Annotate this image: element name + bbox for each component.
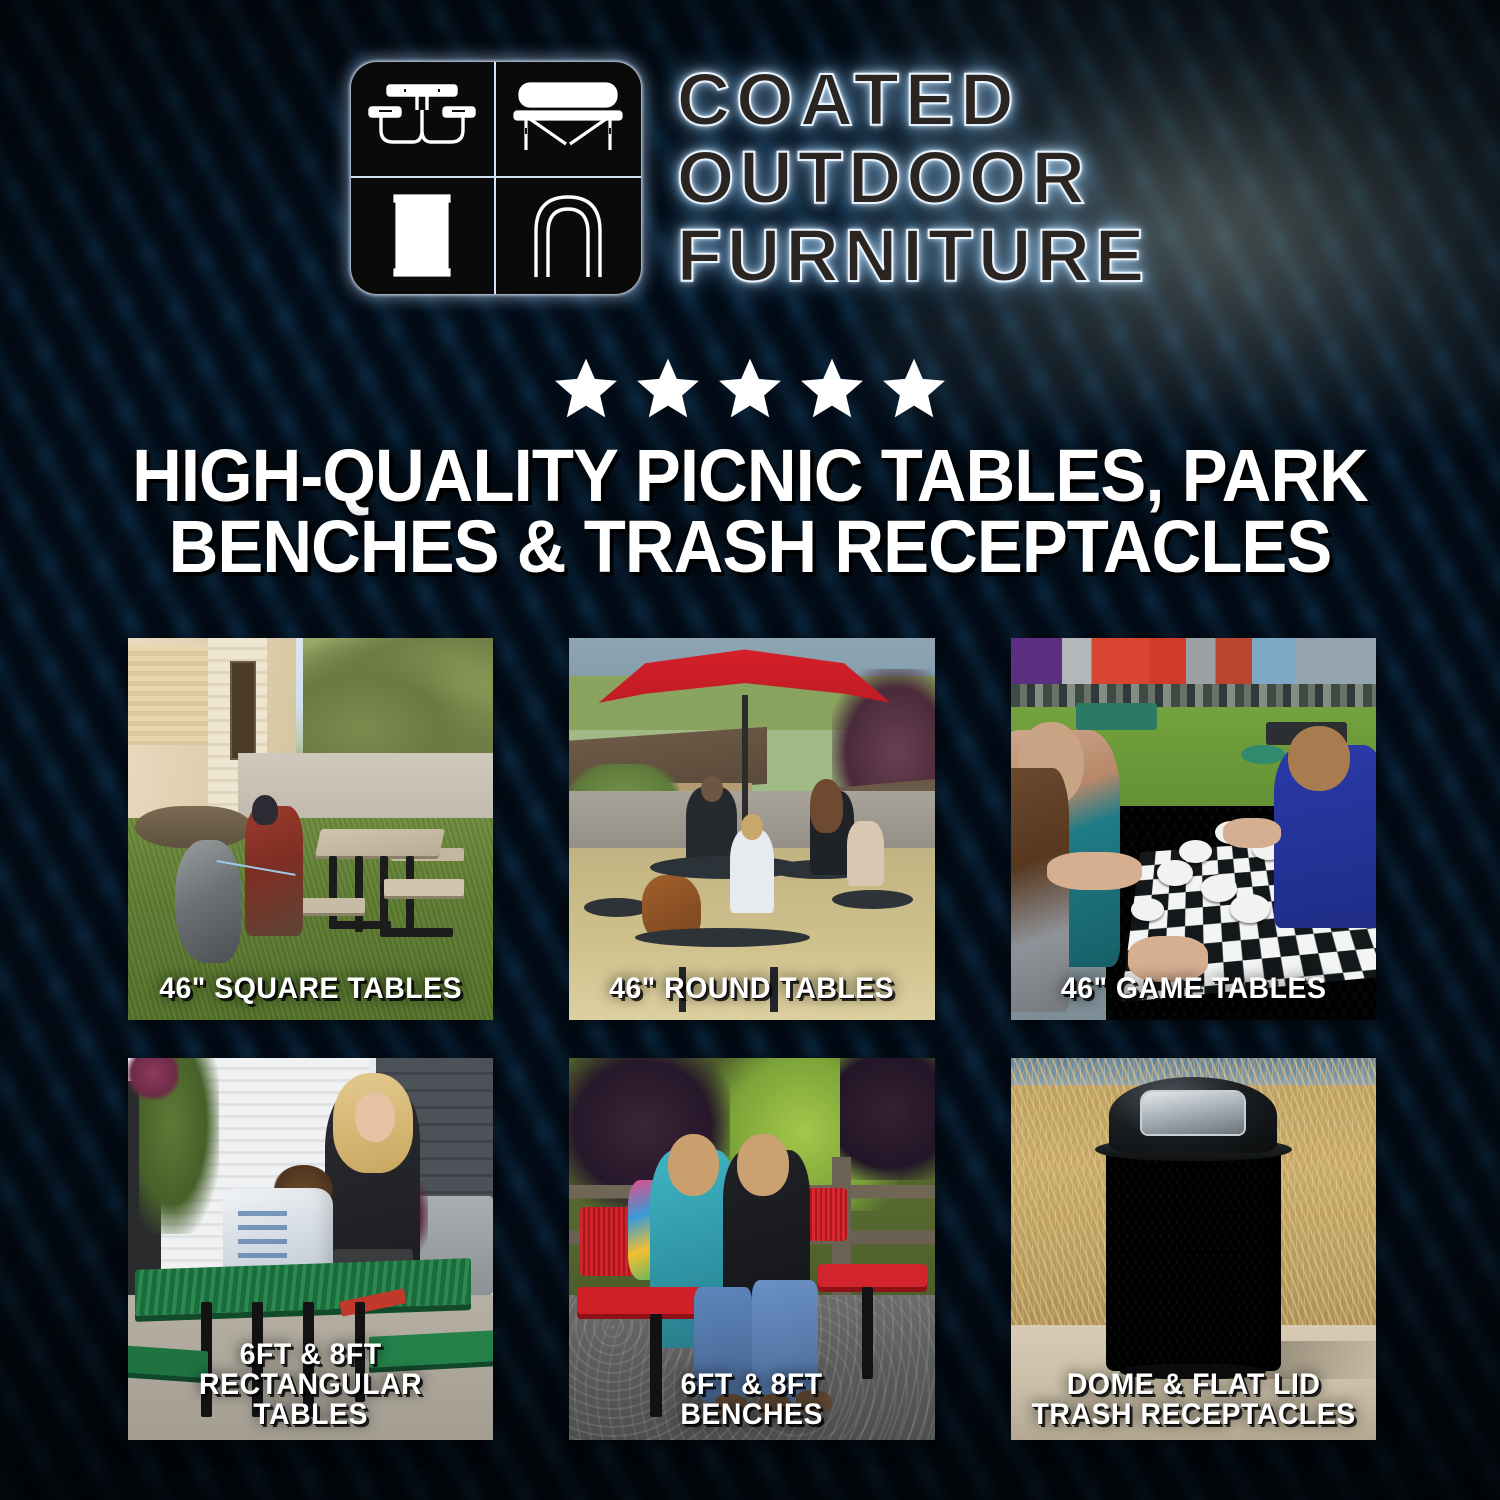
product-tile-round-tables[interactable]: 46" ROUND TABLES bbox=[569, 638, 934, 1020]
product-photo-game-tables bbox=[1011, 638, 1376, 1020]
headline-line-2: BENCHES & TRASH RECEPTACLES bbox=[53, 511, 1448, 582]
product-tile-benches[interactable]: 6FT & 8FT BENCHES bbox=[569, 1058, 934, 1440]
star-icon-1 bbox=[553, 356, 619, 420]
caption-line-2: RECTANGULAR TABLES bbox=[143, 1370, 479, 1430]
caption-line-1: 46" ROUND TABLES bbox=[584, 974, 920, 1004]
caption-round-tables: 46" ROUND TABLES bbox=[578, 974, 925, 1004]
product-tile-rectangular-tables[interactable]: 6FT & 8FT RECTANGULAR TABLES bbox=[128, 1058, 493, 1440]
product-photo-square-tables bbox=[128, 638, 493, 1020]
caption-square-tables: 46" SQUARE TABLES bbox=[137, 974, 484, 1004]
caption-benches: 6FT & 8FT BENCHES bbox=[578, 1370, 925, 1430]
caption-line-1: 46" SQUARE TABLES bbox=[143, 974, 479, 1004]
caption-rectangular-tables: 6FT & 8FT RECTANGULAR TABLES bbox=[137, 1340, 484, 1430]
headline: HIGH-QUALITY PICNIC TABLES, PARK BENCHES… bbox=[53, 440, 1448, 582]
product-photo-round-tables bbox=[569, 638, 934, 1020]
poster-canvas: COATED OUTDOOR FURNITURE HIGH-QUALITY PI… bbox=[0, 0, 1500, 1500]
trash-receptacle-icon bbox=[351, 178, 496, 294]
caption-line-2: BENCHES bbox=[584, 1400, 920, 1430]
headline-line-1: HIGH-QUALITY PICNIC TABLES, PARK bbox=[53, 440, 1448, 511]
star-icon-4 bbox=[799, 356, 865, 420]
product-grid: 46" SQUARE TABLES bbox=[128, 638, 1376, 1440]
rating-stars bbox=[0, 356, 1500, 420]
logo-mark-tile bbox=[351, 62, 641, 294]
brand-logo: COATED OUTDOOR FURNITURE bbox=[0, 62, 1500, 297]
logo-line-1: COATED bbox=[677, 64, 1150, 136]
star-icon-2 bbox=[635, 356, 701, 420]
bike-rack-arch-icon bbox=[496, 178, 641, 294]
caption-line-2: TRASH RECEPTACLES bbox=[1025, 1400, 1361, 1430]
caption-line-1: 46" GAME TABLES bbox=[1025, 974, 1361, 1004]
caption-line-1: 6FT & 8FT bbox=[584, 1370, 920, 1400]
picnic-table-icon bbox=[351, 62, 496, 178]
logo-line-3: FURNITURE bbox=[677, 220, 1150, 292]
caption-game-tables: 46" GAME TABLES bbox=[1020, 974, 1367, 1004]
logo-line-2: OUTDOOR bbox=[677, 142, 1150, 214]
logo-wordmark: COATED OUTDOOR FURNITURE bbox=[677, 62, 1150, 297]
caption-trash-receptacles: DOME & FLAT LID TRASH RECEPTACLES bbox=[1020, 1370, 1367, 1430]
caption-line-1: 6FT & 8FT bbox=[143, 1340, 479, 1370]
product-tile-trash-receptacles[interactable]: DOME & FLAT LID TRASH RECEPTACLES bbox=[1011, 1058, 1376, 1440]
product-tile-game-tables[interactable]: 46" GAME TABLES bbox=[1011, 638, 1376, 1020]
star-icon-5 bbox=[881, 356, 947, 420]
star-icon-3 bbox=[717, 356, 783, 420]
caption-line-1: DOME & FLAT LID bbox=[1025, 1370, 1361, 1400]
product-tile-square-tables[interactable]: 46" SQUARE TABLES bbox=[128, 638, 493, 1020]
bench-icon bbox=[496, 62, 641, 178]
